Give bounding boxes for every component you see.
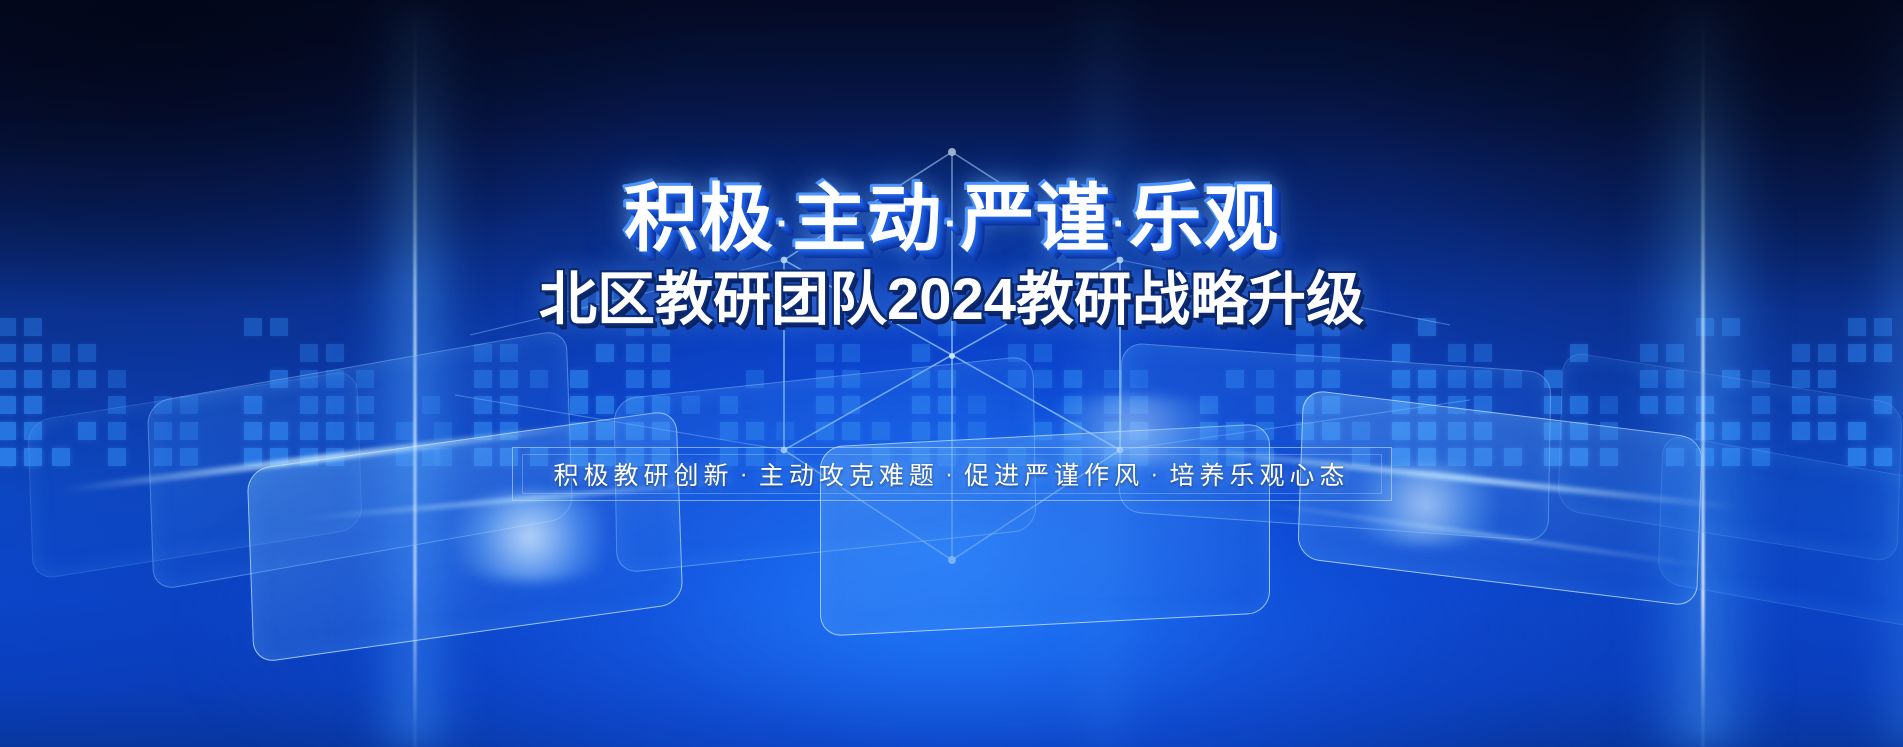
banner-subtitle: 北区教研团队2024教研战略升级 [539, 270, 1364, 331]
banner-main-title: 积极·主动·严谨·乐观 [624, 182, 1279, 256]
title-separator: · [942, 202, 960, 246]
tagline-item-2: 主动攻克难题 [759, 456, 939, 492]
main-title-word-2: 主动 [792, 177, 942, 260]
banner-content: 积极·主动·严谨·乐观 北区教研团队2024教研战略升级 [0, 0, 1903, 747]
tagline-item-4: 培养乐观心态 [1170, 456, 1350, 492]
main-title-word-3: 严谨 [961, 177, 1111, 260]
tagline-separator: · [733, 460, 758, 489]
tech-conference-banner: 积极·主动·严谨·乐观 北区教研团队2024教研战略升级 积极教研创新 · 主动… [0, 0, 1903, 747]
tagline-bar: 积极教研创新 · 主动攻克难题 · 促进严谨作风 · 培养乐观心态 [512, 447, 1392, 501]
tagline-separator: · [939, 460, 964, 489]
main-title-word-4: 乐观 [1129, 177, 1279, 260]
title-separator: · [1111, 202, 1129, 246]
tagline-text: 积极教研创新 · 主动攻克难题 · 促进严谨作风 · 培养乐观心态 [512, 447, 1392, 501]
tagline-separator: · [1144, 460, 1169, 489]
main-title-word-1: 积极 [624, 177, 774, 260]
tagline-item-3: 促进严谨作风 [964, 456, 1144, 492]
tagline-item-1: 积极教研创新 [553, 456, 733, 492]
title-separator: · [774, 202, 792, 246]
